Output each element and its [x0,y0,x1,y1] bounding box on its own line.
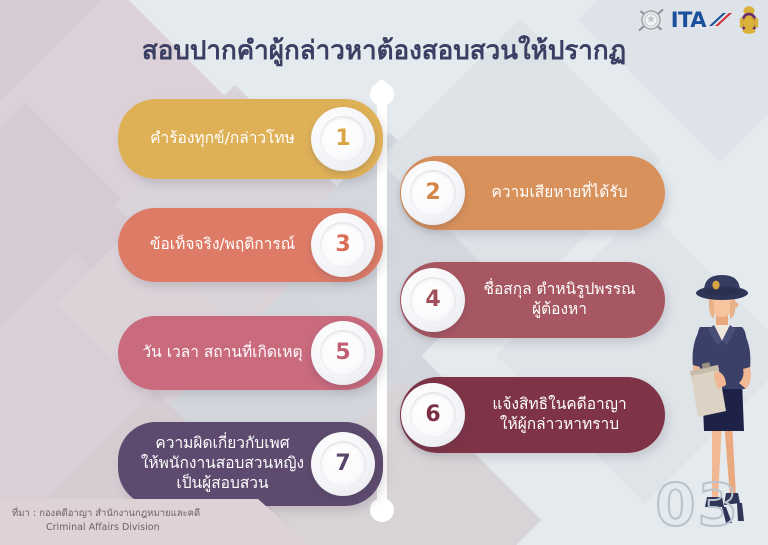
timeline-item-3-label: ข้อเท็จจริง/พฤติการณ์ [140,235,305,255]
timeline-number-6: 6 [425,404,440,426]
page-title: สอบปากคำผู้กล่าวหาต้องสอบสวนให้ปรากฏ [0,30,768,71]
timeline-medallion-5: 5 [311,321,375,385]
timeline-medallion-1: 1 [311,107,375,171]
timeline-item-7-label: ความผิดเกี่ยวกับเพศ ให้พนักงานสอบสวนหญิง… [140,434,305,493]
timeline-medallion-7: 7 [311,432,375,496]
ita-swoosh-icon [707,12,733,28]
page-number: 03 [655,471,740,539]
timeline-item-5-label: วัน เวลา สถานที่เกิดเหตุ [140,343,305,363]
footer-source-line: ที่มา : กองคดีอาญา สำนักงานกฎหมายและคดี [12,507,200,521]
timeline-medallion-2: 2 [401,161,465,225]
timeline-number-5: 5 [335,342,350,364]
timeline-end-dot [370,498,394,522]
infographic-canvas: ITA สอบปากคำผู้กล่าวหาต้องสอบสวนให้ปรากฏ… [0,0,768,545]
timeline-medallion-4: 4 [401,268,465,332]
timeline-number-3: 3 [335,234,350,256]
timeline-item-4-label: ชื่อสกุล ตำหนิรูปพรรณ ผู้ต้องหา [478,280,641,320]
ita-logo-text: ITA [671,10,706,31]
timeline-number-2: 2 [425,182,440,204]
timeline-medallion-6: 6 [401,383,465,447]
timeline-number-4: 4 [425,289,440,311]
footer-text: ที่มา : กองคดีอาญา สำนักงานกฎหมายและคดี … [12,507,200,536]
footer: ที่มา : กองคดีอาญา สำนักงานกฎหมายและคดี … [0,499,310,545]
timeline-item-6-label: แจ้งสิทธิในคดีอาญา ให้ผู้กล่าวหาทราบ [478,395,641,435]
timeline-medallion-3: 3 [311,213,375,277]
timeline-number-7: 7 [335,453,350,475]
timeline-start-dot [370,82,394,106]
footer-division-line: Criminal Affairs Division [12,521,200,535]
timeline-item-1-label: คำร้องทุกข์/กล่าวโทษ [140,129,305,149]
timeline-number-1: 1 [335,128,350,150]
timeline-item-2-label: ความเสียหายที่ได้รับ [478,183,641,203]
